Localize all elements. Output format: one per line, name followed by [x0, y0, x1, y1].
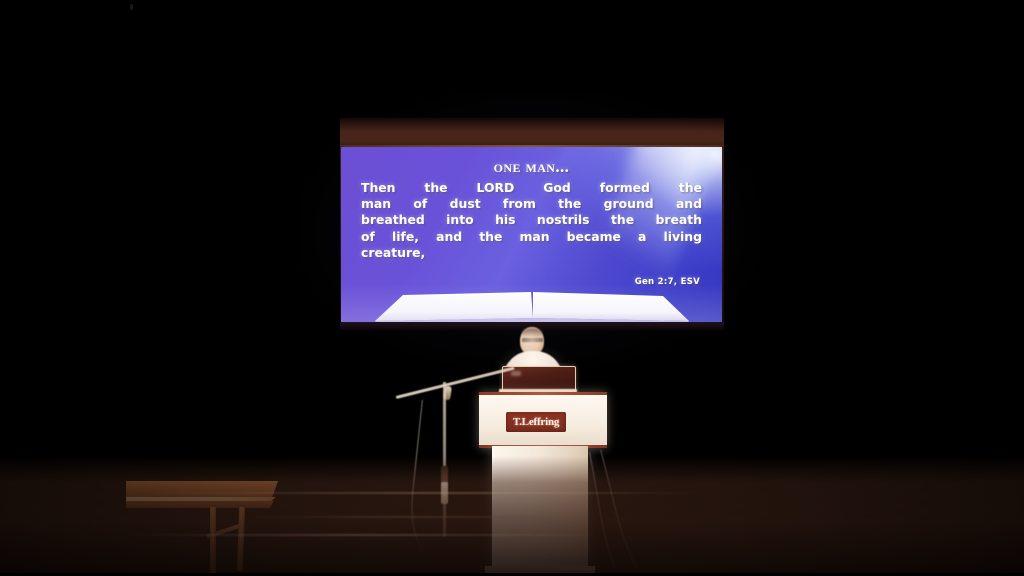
table-edge-highlight — [126, 497, 276, 501]
table-surface — [126, 481, 278, 498]
microphone-stand — [392, 360, 522, 550]
ceiling-speck — [130, 4, 133, 10]
slide-body-text: Then the LORD God formed the man of dust… — [357, 180, 706, 262]
stage-floor-seam — [120, 534, 600, 536]
slide-body-line: creature, — [361, 245, 702, 261]
slide-body-line: of life, and the man became a living — [361, 229, 702, 245]
slide-scripture-reference: Gen 2:7, ESV — [635, 277, 700, 287]
microphone-cable — [406, 400, 459, 550]
floor-cable — [600, 450, 652, 576]
stage-floor-seam — [150, 492, 710, 494]
letterbox-top — [0, 0, 1024, 2]
screen-masking-band — [340, 118, 724, 148]
slide-body-line: Then the LORD God formed the — [361, 180, 702, 196]
table-apron — [126, 501, 274, 508]
presenter-hair — [521, 328, 543, 337]
projected-slide: One Man... Then the LORD God formed the … — [341, 147, 722, 323]
microphone-boom-arm — [396, 367, 515, 399]
slide-title: One Man... — [357, 158, 706, 177]
wooden-table — [126, 481, 282, 576]
glasses-icon — [522, 338, 543, 342]
floor-cable-run — [255, 516, 545, 518]
table-leg — [237, 507, 245, 571]
projection-screen: One Man... Then the LORD God formed the … — [340, 118, 724, 330]
stage-photograph: One Man... Then the LORD God formed the … — [0, 0, 1024, 576]
slide-body-line: man of dust from the ground and — [361, 196, 702, 212]
table-leg — [210, 507, 216, 573]
slide-body-line: breathed into his nostrils the breath — [361, 212, 702, 228]
slide-content: One Man... Then the LORD God formed the … — [341, 147, 722, 323]
